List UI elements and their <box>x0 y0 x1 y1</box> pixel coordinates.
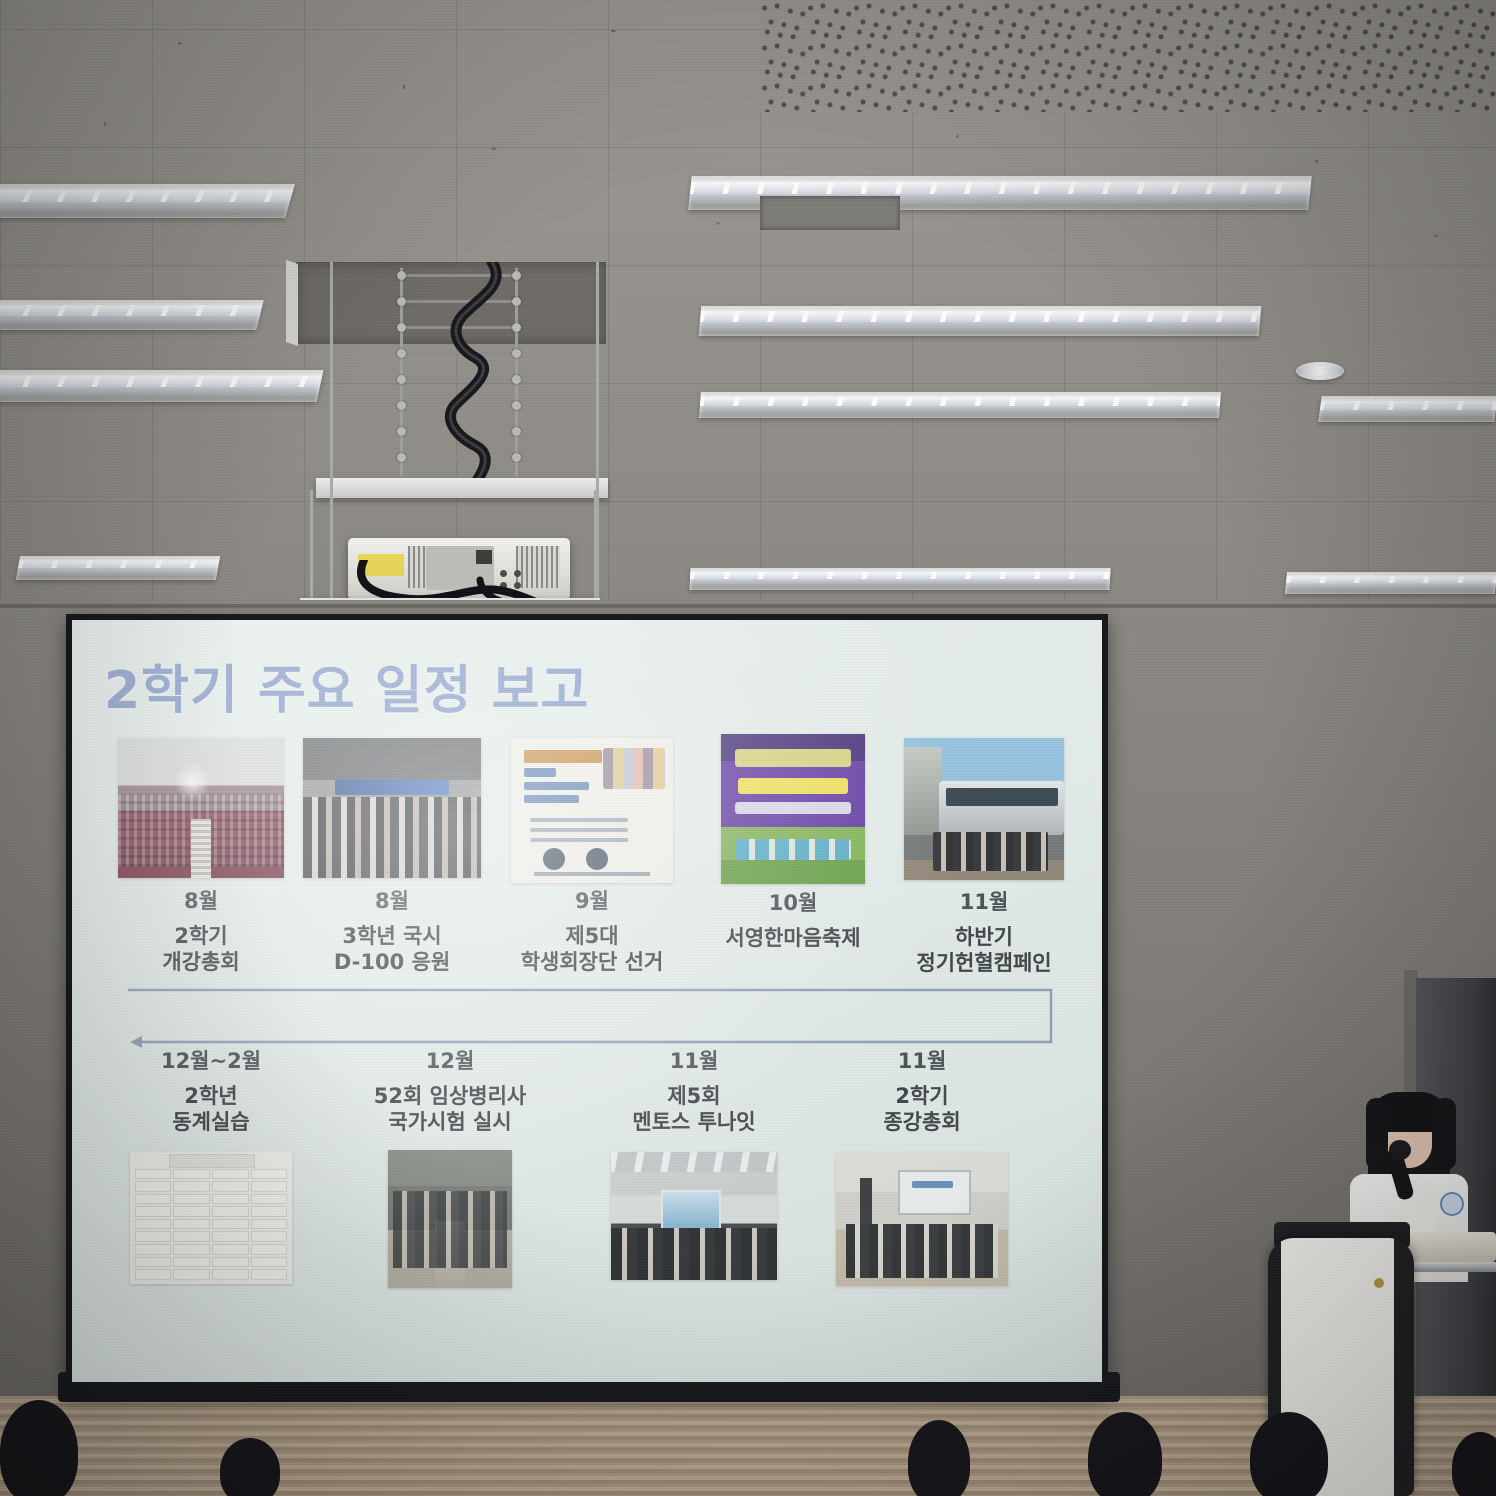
ceiling-downlight <box>1296 362 1344 380</box>
timeline-item-month: 8월 <box>112 890 290 913</box>
projector-upper-shelf <box>316 478 608 498</box>
timeline-item-label: 하반기 정기헌혈캠페인 <box>886 924 1082 977</box>
ceiling-light-fixture <box>689 568 1110 590</box>
acoustic-ceiling-panel <box>760 0 1496 112</box>
timeline-item: 11월 제5회 멘토스 투나잇 <box>588 1050 800 1280</box>
timeline-item-image <box>303 738 481 878</box>
timeline-item: 11월 2학기 종강총회 <box>824 1050 1020 1286</box>
wall-trim <box>0 604 1496 608</box>
timeline-item-label: 3학년 국시 D-100 응원 <box>294 923 490 976</box>
ceiling-light-fixture <box>0 184 295 218</box>
ceiling-light-fixture <box>0 370 323 402</box>
timeline-item-month: 11월 <box>824 1050 1020 1073</box>
timeline-item-month: 8월 <box>294 890 490 913</box>
audience-head <box>1088 1412 1162 1496</box>
ceiling-light-fixture <box>1318 396 1496 422</box>
timeline-item-image <box>836 1152 1008 1286</box>
side-table <box>1404 1232 1496 1262</box>
slide-title: 2학기 주요 일정 보고 <box>104 648 589 723</box>
timeline-item-image <box>388 1150 512 1288</box>
timeline-item-month: 10월 <box>700 892 886 915</box>
timeline-item-label: 2학기 종강총회 <box>824 1083 1020 1136</box>
timeline-item-image <box>511 738 673 883</box>
timeline-item: 10월 서영한마음축제 <box>700 734 886 951</box>
timeline-item: 12월~2월 2학년 동계실습 <box>116 1050 306 1284</box>
audience-head <box>908 1420 970 1496</box>
timeline-item-image <box>118 738 284 878</box>
slide-row-1: 8월 2학기 개강총회 8월 3학년 국시 D-100 응원 <box>72 738 1102 988</box>
ceiling-light-fixture <box>1285 572 1496 594</box>
timeline-item-month: 9월 <box>490 890 694 913</box>
school-emblem-patch <box>1440 1192 1464 1216</box>
timeline-item-image <box>130 1152 292 1284</box>
slide-row-2: 12월~2월 2학년 동계실습 <box>72 1050 1102 1360</box>
timeline-item-image <box>721 734 865 884</box>
audience-head <box>1250 1412 1328 1496</box>
timeline-item-label: 제5회 멘토스 투나잇 <box>588 1083 800 1136</box>
timeline-item: 8월 3학년 국시 D-100 응원 <box>294 738 490 976</box>
timeline-item-label: 52회 임상병리사 국가시험 실시 <box>330 1083 570 1136</box>
room: 2학기 주요 일정 보고 8월 2학기 개강총회 8월 <box>0 0 1496 1496</box>
suspension-rod <box>330 262 333 602</box>
timeline-arrowhead <box>130 1036 142 1048</box>
timeline-item-label: 2학년 동계실습 <box>116 1083 306 1136</box>
microphone-head <box>1389 1140 1411 1160</box>
ceiling-light-fixture <box>0 300 264 330</box>
slide: 2학기 주요 일정 보고 8월 2학기 개강총회 8월 <box>72 620 1102 1382</box>
timeline-item-image <box>611 1152 777 1280</box>
ceiling-light-fixture <box>699 392 1221 418</box>
suspension-rod <box>310 490 313 608</box>
ceiling-light-fixture <box>16 556 220 580</box>
ceiling-light-fixture <box>699 306 1262 336</box>
timeline-item-month: 11월 <box>588 1050 800 1073</box>
projector-power-cable <box>420 262 530 490</box>
podium-emblem <box>1374 1278 1384 1288</box>
timeline-item-label: 제5대 학생회장단 선거 <box>490 923 694 976</box>
audience-head <box>220 1438 280 1496</box>
timeline-item-month: 12월 <box>330 1050 570 1073</box>
projection-screen: 2학기 주요 일정 보고 8월 2학기 개강총회 8월 <box>72 620 1102 1382</box>
ceiling-vent <box>760 196 900 230</box>
timeline-item-image <box>904 738 1064 880</box>
timeline-item: 9월 제5대 학생회장단 선거 <box>490 738 694 976</box>
timeline-item-month: 12월~2월 <box>116 1050 306 1073</box>
timeline-item-month: 11월 <box>886 891 1082 914</box>
timeline-item: 8월 2학기 개강총회 <box>112 738 290 976</box>
suspension-rod <box>594 490 597 608</box>
side-table-rail <box>1410 1262 1496 1272</box>
presentation-room-photo: 2학기 주요 일정 보고 8월 2학기 개강총회 8월 <box>0 0 1496 1496</box>
timeline-item: 12월 52회 임상병리사 국가시험 실시 <box>330 1050 570 1288</box>
timeline-item: 11월 하반기 정기헌혈캠페인 <box>886 738 1082 977</box>
audience-head <box>0 1400 78 1496</box>
timeline-item-label: 서영한마음축제 <box>700 925 886 951</box>
timeline-item-label: 2학기 개강총회 <box>112 923 290 976</box>
timeline-arrow <box>126 986 1056 1048</box>
